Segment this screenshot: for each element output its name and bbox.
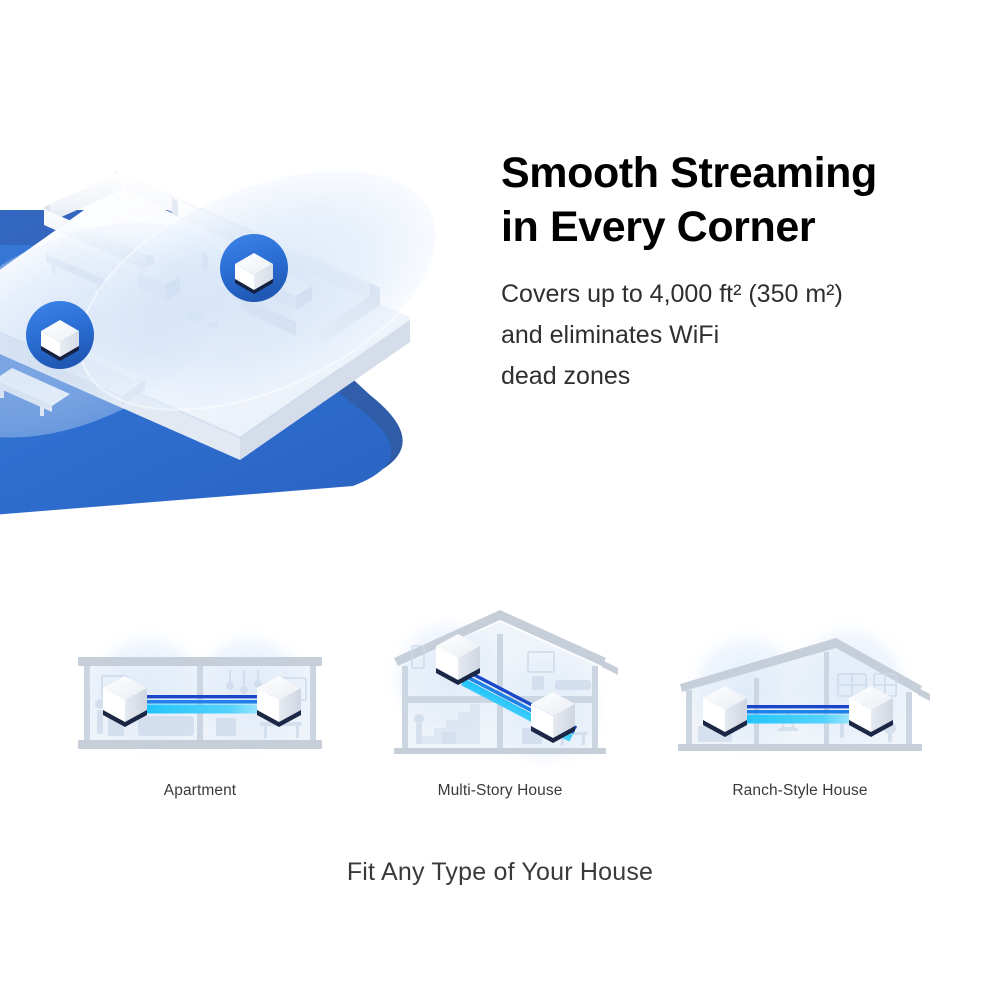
page-title: Smooth Streaming in Every Corner bbox=[501, 146, 971, 254]
house-card-label: Apartment bbox=[164, 782, 236, 800]
house-card-label: Ranch-Style House bbox=[732, 782, 867, 800]
house-card-label: Multi-Story House bbox=[438, 782, 563, 800]
isometric-floor-plan-svg bbox=[0, 150, 500, 550]
apartment-svg bbox=[50, 600, 350, 780]
mesh-unit-badge-1[interactable] bbox=[26, 301, 94, 369]
house-card-ranch: Ranch-Style House bbox=[650, 600, 950, 800]
mesh-unit-badge-2[interactable] bbox=[220, 234, 288, 302]
house-type-cards: Apartment bbox=[0, 600, 1000, 840]
hero-section: Smooth Streaming in Every Corner Covers … bbox=[0, 0, 1000, 560]
multi-story-svg bbox=[350, 600, 650, 780]
house-card-multi-story: Multi-Story House bbox=[350, 600, 650, 800]
ranch-illustration bbox=[650, 600, 950, 780]
hero-copy-block: Smooth Streaming in Every Corner Covers … bbox=[501, 146, 971, 397]
house-card-apartment: Apartment bbox=[50, 600, 350, 800]
apartment-illustration bbox=[50, 600, 350, 780]
multi-story-illustration bbox=[350, 600, 650, 780]
ranch-svg bbox=[650, 600, 950, 780]
hero-description: Covers up to 4,000 ft² (350 m²) and elim… bbox=[501, 254, 971, 397]
section-caption: Fit Any Type of Your House bbox=[0, 858, 1000, 887]
hero-illustration bbox=[0, 150, 500, 550]
